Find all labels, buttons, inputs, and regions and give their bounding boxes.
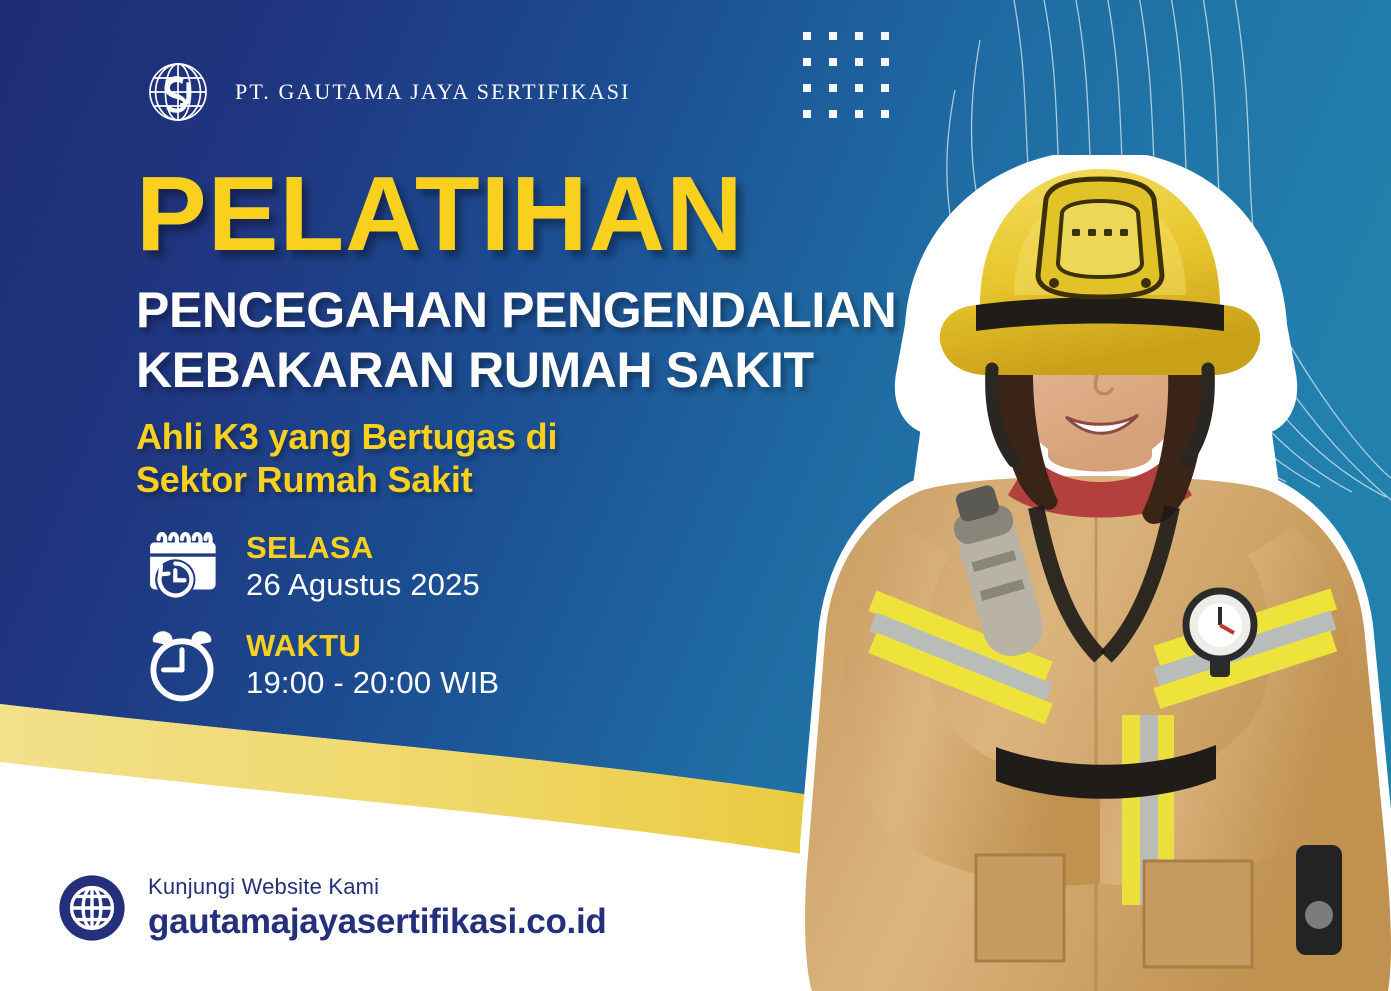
event-time-row: WAKTU 19:00 - 20:00 WIB: [140, 622, 499, 706]
event-date-row: SELASA 26 Agustus 2025: [140, 524, 499, 608]
website-url[interactable]: gautamajayasertifikasi.co.id: [148, 903, 606, 942]
dot-grid-icon: [803, 32, 889, 118]
tagline-line-1: Ahli K3 yang Bertugas di: [136, 415, 956, 458]
tagline-line-2: Sektor Rumah Sakit: [136, 458, 956, 501]
subtitle-line-1: PENCEGAHAN PENGENDALIAN: [136, 281, 956, 339]
website-text: Kunjungi Website Kami gautamajayasertifi…: [148, 875, 606, 942]
event-date-value: 26 Agustus 2025: [246, 568, 480, 601]
calendar-clock-icon: [140, 524, 224, 608]
subtitle-line-2: KEBAKARAN RUMAH SAKIT: [136, 341, 956, 399]
event-time-label: WAKTU: [246, 629, 499, 662]
page-title: PELATIHAN: [136, 163, 956, 267]
brand-header: PT. GAUTAMA JAYA SERTIFIKASI: [143, 57, 631, 127]
website-kicker: Kunjungi Website Kami: [148, 875, 606, 899]
event-time-text: WAKTU 19:00 - 20:00 WIB: [246, 629, 499, 699]
event-details: SELASA 26 Agustus 2025 WAKTU 19:00 - 2: [140, 524, 499, 720]
event-day-label: SELASA: [246, 531, 480, 564]
event-time-value: 19:00 - 20:00 WIB: [246, 666, 499, 699]
brand-name: PT. GAUTAMA JAYA SERTIFIKASI: [235, 79, 631, 105]
alarm-clock-icon: [140, 622, 224, 706]
promotional-poster: PT. GAUTAMA JAYA SERTIFIKASI PELATIHAN P…: [0, 0, 1391, 991]
website-footer[interactable]: Kunjungi Website Kami gautamajayasertifi…: [58, 874, 606, 942]
globe-icon: [58, 874, 126, 942]
event-date-text: SELASA 26 Agustus 2025: [246, 531, 480, 601]
globe-monogram-gjs-icon: [143, 57, 213, 127]
headline-block: PELATIHAN PENCEGAHAN PENGENDALIAN KEBAKA…: [136, 163, 956, 501]
